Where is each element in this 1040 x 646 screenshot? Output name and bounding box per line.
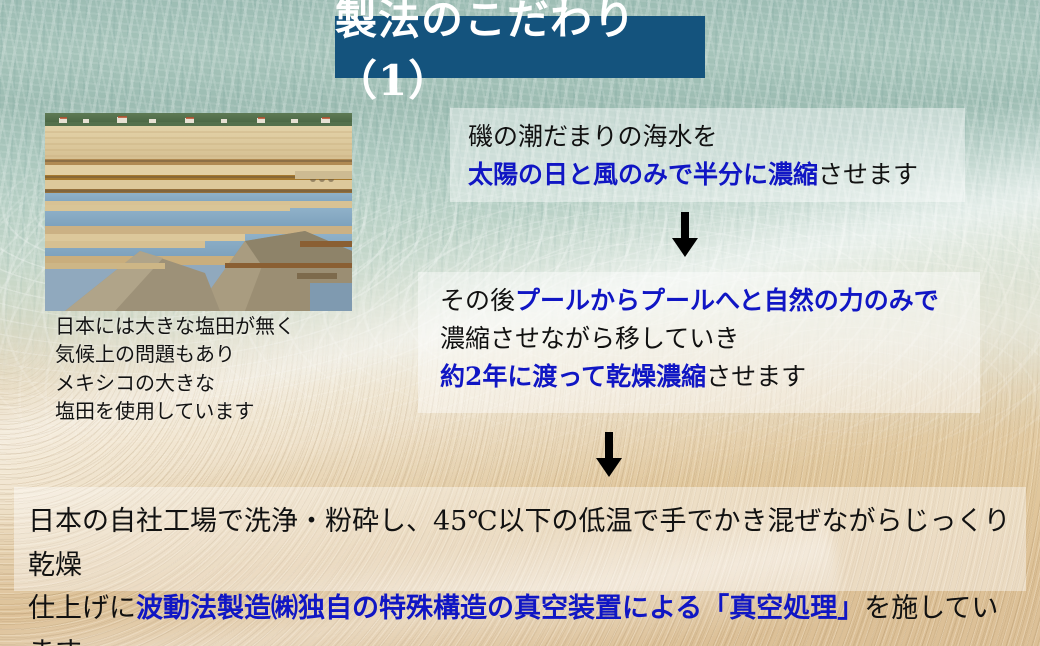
plain-text: させます: [706, 362, 806, 391]
step-2-line-3: 約2年に渡って乾燥濃縮させます: [440, 358, 985, 396]
step-3-line-1: 日本の自社工場で洗浄・粉砕し、45℃以下の低温で手でかき混ぜながらじっくり乾燥: [28, 500, 1018, 587]
step-1-text: 磯の潮だまりの海水を太陽の日と風のみで半分に濃縮させます: [468, 118, 968, 194]
highlighted-text: 太陽の日と風のみで半分に濃縮: [468, 160, 818, 189]
step-2-line-2: 濃縮させながら移していき: [440, 320, 985, 358]
step-2-line-1: その後プールからプールへと自然の力のみで: [440, 282, 985, 320]
slide-canvas: 製法のこだわり（1）: [0, 0, 1040, 646]
plain-text: その後: [440, 286, 515, 315]
plain-text: 磯の潮だまりの海水を: [468, 122, 718, 151]
highlighted-text: 波動法製造㈱独自の特殊構造の真空装置による「真空処理」: [136, 593, 864, 624]
arrow-down-icon: [592, 432, 626, 478]
highlighted-text: プールからプールへと自然の力のみで: [515, 286, 939, 315]
step-1-line-1: 磯の潮だまりの海水を: [468, 118, 968, 156]
highlighted-text: 約2年に渡って乾燥濃縮: [440, 362, 706, 391]
step-3-text: 日本の自社工場で洗浄・粉砕し、45℃以下の低温で手でかき混ぜながらじっくり乾燥仕…: [28, 500, 1018, 646]
step-2-text: その後プールからプールへと自然の力のみで濃縮させながら移していき約2年に渡って乾…: [440, 282, 985, 396]
arrow-down-icon: [668, 212, 702, 258]
plain-text: 日本の自社工場で洗浄・粉砕し、45℃以下の低温で手でかき混ぜながらじっくり乾燥: [28, 506, 1011, 581]
plain-text: させます: [818, 160, 918, 189]
step-3-line-2: 仕上げに波動法製造㈱独自の特殊構造の真空装置による「真空処理」を施しています: [28, 587, 1018, 646]
photo-caption: 日本には大きな塩田が無く 気候上の問題もあり メキシコの大きな 塩田を使用してい…: [55, 312, 385, 426]
plain-text: 濃縮させながら移していき: [440, 324, 739, 353]
step-1-line-2: 太陽の日と風のみで半分に濃縮させます: [468, 156, 968, 194]
salt-evaporation-ponds-photo: [45, 113, 352, 311]
page-title: 製法のこだわり（1）: [335, 16, 705, 78]
plain-text: 仕上げに: [28, 593, 136, 624]
